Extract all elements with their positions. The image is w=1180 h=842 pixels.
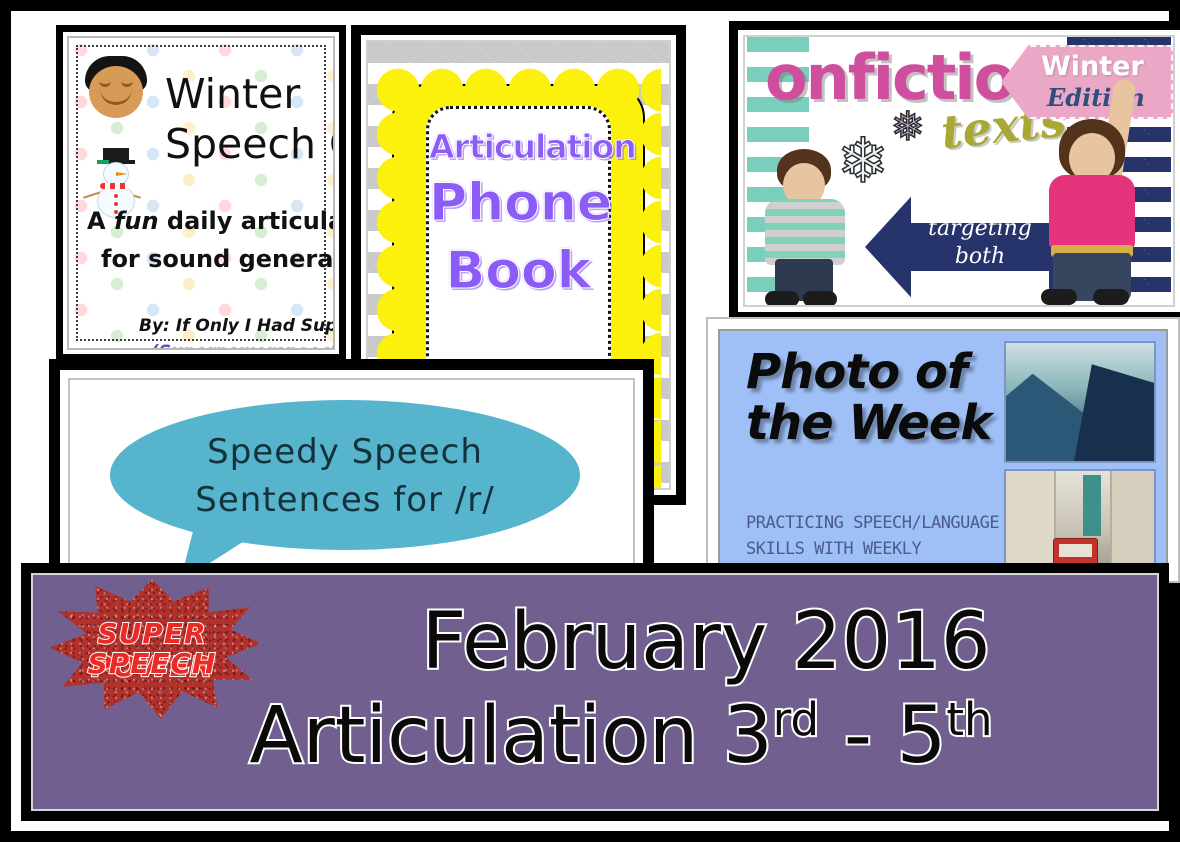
banner-grade-sup-1: rd — [773, 693, 819, 746]
banner-grade-mid: - 5 — [819, 691, 946, 781]
product-card-photo-of-the-week[interactable]: Photo of the Week PRACTICING SPEECH/LANG… — [708, 319, 1178, 581]
card-inner-frame: onfiction texts ❄ ❅ Winter Edition targe… — [743, 35, 1175, 307]
city-street-tram-photo — [1004, 469, 1156, 571]
speedy-line-2: Sentences for /r/ — [110, 476, 580, 524]
banner-grade-prefix: Articulation 3 — [249, 691, 772, 781]
photo-week-title-line-2: the Week — [746, 398, 991, 449]
photo-week-subtitle-line-1: PRACTICING SPEECH/LANGUAGE — [746, 511, 1046, 537]
photo-week-title: Photo of the Week — [746, 347, 991, 449]
banner-title-line-1: February 2016 — [241, 597, 1171, 687]
phone-book-title-line-2: Phone — [429, 173, 608, 233]
card-subtitle-line-2: for sound genera — [101, 244, 335, 275]
snowflake-icon-small: ❅ — [891, 107, 925, 147]
speech-bubble-text: Speedy Speech Sentences for /r/ — [110, 428, 580, 525]
card-subtitle-line-1: A fun daily articulatio — [87, 206, 335, 237]
photo-week-subtitle: PRACTICING SPEECH/LANGUAGE SKILLS WITH W… — [746, 511, 1046, 571]
card-byline: By: If Only I Had Supe — [139, 316, 335, 336]
card-inner-frame: Speedy Speech Sentences for /r/ — [68, 378, 635, 568]
boy-photo — [759, 133, 851, 303]
smiling-child-face-icon — [85, 56, 147, 118]
card-site-url: (Superpowerspeech — [151, 342, 335, 350]
poster-root: Winter Speech C A fun daily articulatio … — [0, 0, 1180, 842]
phone-book-title-line-3: Book — [429, 241, 608, 301]
landscape-fjord-photo — [1004, 341, 1156, 463]
girl-photo — [1029, 75, 1157, 303]
banner-title-line-2: Articulation 3rd - 5th — [91, 691, 1151, 781]
speedy-line-1: Speedy Speech — [110, 428, 580, 476]
product-card-nonfiction-texts[interactable]: onfiction texts ❄ ❅ Winter Edition targe… — [729, 21, 1180, 321]
card-title-line-1: Winter — [165, 66, 335, 123]
card-title-line-2: Speech C — [165, 116, 335, 173]
banner-grade-sup-2: th — [946, 693, 992, 746]
product-card-winter-speech-calendar[interactable]: Winter Speech C A fun daily articulatio … — [56, 25, 346, 361]
logo-line-2: SPEECH — [43, 647, 261, 680]
photo-week-title-line-1: Photo of — [746, 347, 991, 398]
product-card-speedy-speech-sentences[interactable]: Speedy Speech Sentences for /r/ — [49, 359, 654, 587]
card-inner-frame: Photo of the Week PRACTICING SPEECH/LANG… — [718, 329, 1168, 571]
phone-book-title-line-1: Articulation — [429, 127, 608, 166]
card-inner-frame: Winter Speech C A fun daily articulatio … — [67, 36, 335, 350]
title-banner: SUPER POWER SPEECH February 2016 Articul… — [21, 563, 1169, 821]
